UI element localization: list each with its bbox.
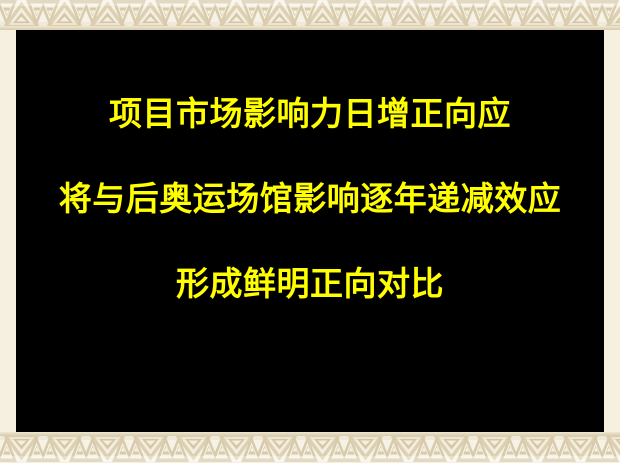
slide-line-3: 形成鲜明正向对比 bbox=[16, 264, 604, 304]
triangle-meander-pattern-icon bbox=[0, 432, 620, 462]
bottom-border-rule bbox=[0, 432, 620, 436]
top-ornament-border bbox=[0, 0, 620, 30]
slide-line-2: 将与后奥运场馆影响逐年递减效应 bbox=[16, 179, 604, 219]
presentation-slide: 项目市场影响力日增正向应 将与后奥运场馆影响逐年递减效应 形成鲜明正向对比 bbox=[0, 0, 620, 463]
bottom-ornament-border bbox=[0, 432, 620, 463]
slide-line-1: 项目市场影响力日增正向应 bbox=[16, 94, 604, 134]
slide-text-block: 项目市场影响力日增正向应 将与后奥运场馆影响逐年递减效应 形成鲜明正向对比 bbox=[16, 30, 604, 304]
slide-content-panel: 项目市场影响力日增正向应 将与后奥运场馆影响逐年递减效应 形成鲜明正向对比 bbox=[16, 30, 604, 432]
